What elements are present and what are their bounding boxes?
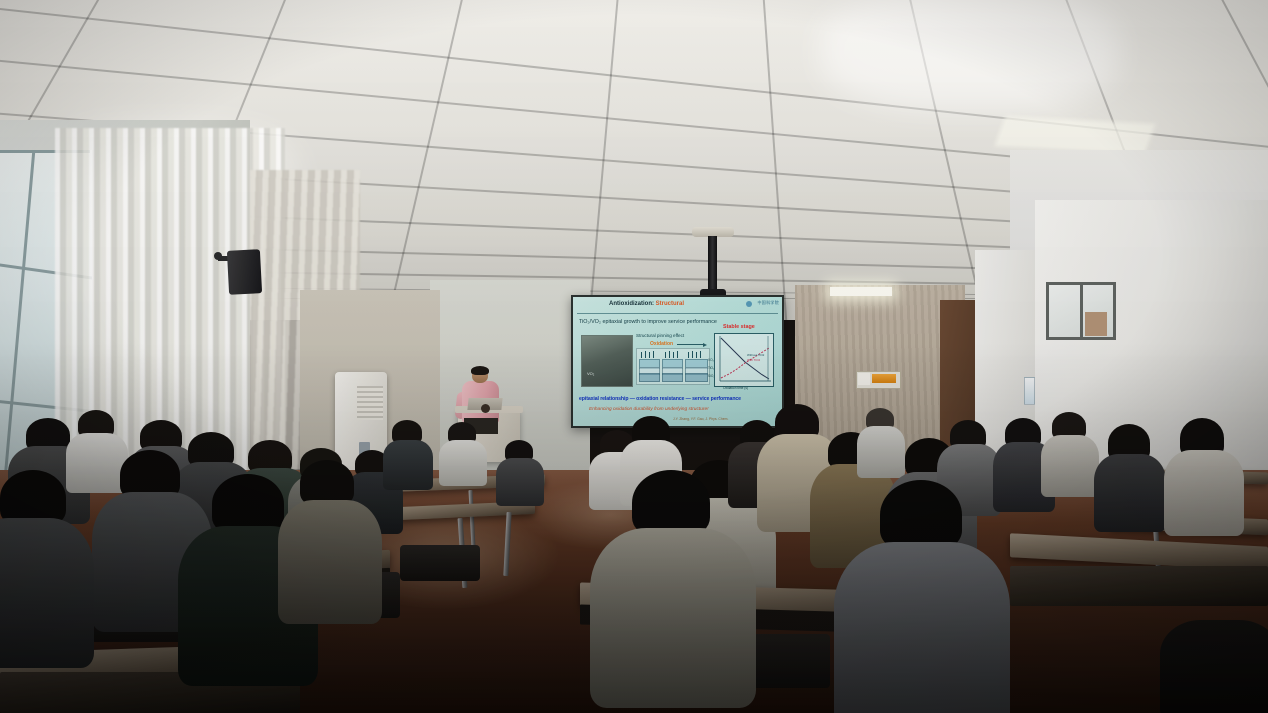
student-torso <box>1160 620 1268 713</box>
student-chair <box>400 545 480 581</box>
institution-logo-text: 中国科学院 <box>758 300 780 306</box>
slide-title: Antioxidization: Structural <box>609 301 759 307</box>
student-torso <box>590 528 756 708</box>
slide-takeaway-line: Enhancing oxidation durability from unde… <box>589 407 708 412</box>
student-torso <box>1041 435 1099 497</box>
student-torso <box>496 458 544 506</box>
oxidation-arrow-head-icon <box>703 343 707 347</box>
student-desk <box>1010 566 1268 606</box>
wall-speaker-left <box>227 249 262 295</box>
lecture-hall-photo: Antioxidization: Structural 中国科学院 TiO₂/V… <box>0 0 1268 713</box>
svg-text:With TiO2: With TiO2 <box>747 358 761 362</box>
oxidation-label: Oxidation <box>650 341 673 347</box>
student-hair <box>212 474 284 534</box>
student-torso <box>857 426 905 478</box>
student-torso <box>439 440 487 486</box>
ceiling-light-fixture <box>830 287 892 296</box>
presenter-hand <box>481 404 490 413</box>
presentation-slide: Antioxidization: Structural 中国科学院 TiO₂/V… <box>573 297 782 426</box>
chart-x-axis-label: Oxidation time (s) <box>723 386 748 390</box>
institution-logo-icon <box>746 301 752 307</box>
student-torso <box>0 518 94 668</box>
student-hair <box>632 470 710 536</box>
slide-header-rule <box>577 313 778 314</box>
slide-citation: J.Y. Zhang, Y.F. Gao, J. Phys. Chem. <box>673 417 728 421</box>
orange-notice-sign <box>872 374 896 383</box>
slide-title-highlight: Structural <box>656 301 684 307</box>
chart-annotation-stable-stage: Stable stage <box>723 324 755 330</box>
student-torso <box>1094 454 1166 532</box>
speaker-bracket <box>214 252 222 260</box>
wall-notice-paper <box>858 373 870 385</box>
presenter-hair <box>471 366 489 375</box>
student-torso <box>383 440 433 490</box>
projector-mounting-pole <box>708 236 717 294</box>
layer-schematic <box>636 348 710 385</box>
slide-conclusion-line: epitaxial relationship — oxidation resis… <box>579 396 741 402</box>
chart-svg: Without TiO2 With TiO2 <box>715 334 773 386</box>
slide-title-main: Antioxidization: <box>609 301 654 307</box>
schematic-layer-label: VO₂ <box>708 358 714 362</box>
slide-chart: Without TiO2 With TiO2 <box>714 333 774 387</box>
small-wall-sign <box>1024 377 1035 405</box>
student-torso <box>834 542 1010 713</box>
sem-caption: VO₂ <box>587 371 594 376</box>
student-hair <box>880 480 962 550</box>
student-torso <box>278 500 382 624</box>
interior-window-pane <box>1085 312 1107 336</box>
svg-text:Without TiO2: Without TiO2 <box>747 353 765 357</box>
student-torso <box>1164 450 1244 536</box>
sem-micrograph-image <box>581 335 633 387</box>
oxidation-arrow-icon <box>677 344 705 345</box>
interior-window-mullion <box>1080 285 1083 337</box>
slide-subtitle: TiO₂/VO₂ epitaxial growth to improve ser… <box>579 319 717 325</box>
pinning-effect-label: Structural pinning effect <box>636 333 684 338</box>
student-torso <box>66 433 128 493</box>
